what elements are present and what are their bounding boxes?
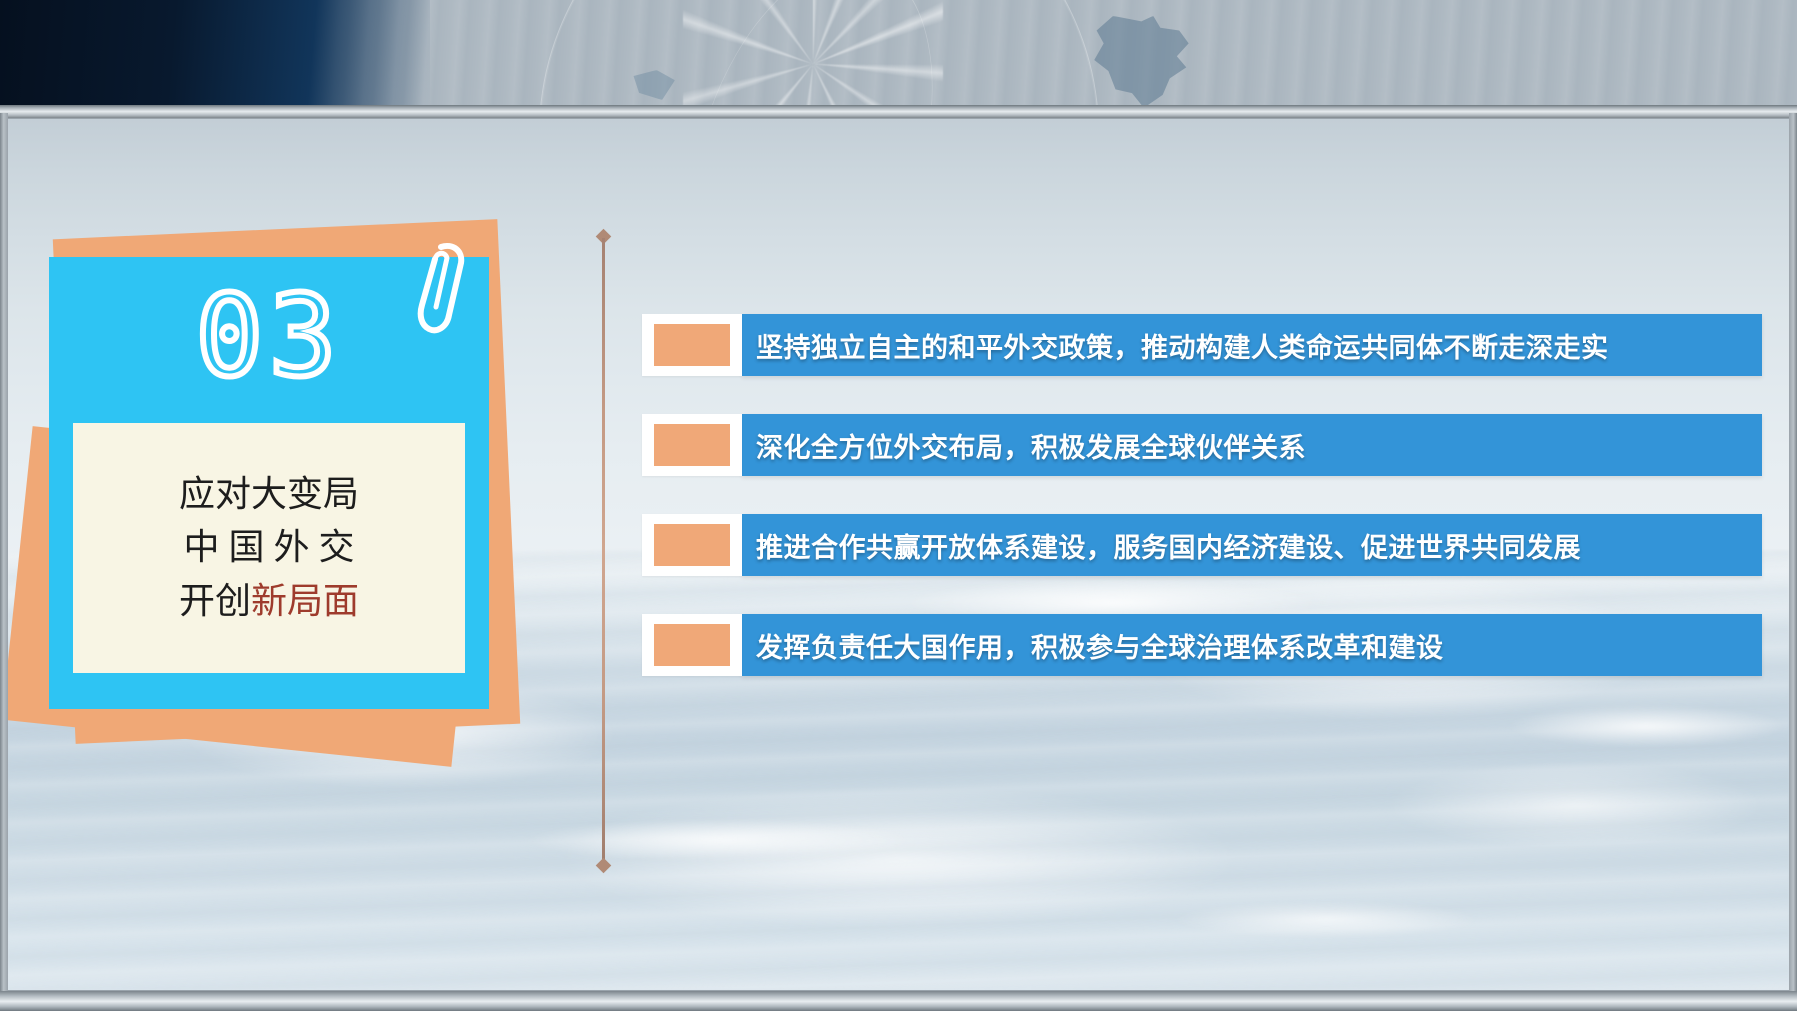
section-number-card: 03 应对大变局 中国外交 开创新局面 — [49, 257, 489, 709]
bullet-text-1: 坚持独立自主的和平外交政策，推动构建人类命运共同体不断走深走实 — [742, 314, 1762, 376]
presentation-slide: 03 应对大变局 中国外交 开创新局面 — [0, 0, 1797, 1011]
bullet-marker-3 — [642, 514, 742, 576]
bullet-marker-1 — [642, 314, 742, 376]
list-item[interactable]: 坚持独立自主的和平外交政策，推动构建人类命运共同体不断走深走实 — [642, 314, 1762, 376]
banner-dark-left-gradient — [0, 0, 430, 113]
vertical-divider-line — [600, 231, 607, 871]
section-title-line-3: 开创新局面 — [179, 582, 359, 622]
section-title-line-3-plain: 开创 — [179, 581, 251, 622]
globe-banner-image — [0, 0, 1797, 113]
paperclip-icon — [411, 241, 465, 337]
list-item[interactable]: 深化全方位外交布局，积极发展全球伙伴关系 — [642, 414, 1762, 476]
section-title-line-1: 应对大变局 — [179, 475, 359, 515]
bullet-square-icon — [654, 524, 730, 566]
bullet-marker-2 — [642, 414, 742, 476]
divider-stem — [602, 238, 605, 864]
bullet-square-icon — [654, 324, 730, 366]
frame-bevel-left — [0, 113, 8, 991]
slide-canvas: 03 应对大变局 中国外交 开创新局面 — [7, 118, 1790, 991]
bullet-text-2: 深化全方位外交布局，积极发展全球伙伴关系 — [742, 414, 1762, 476]
bullet-square-icon — [654, 624, 730, 666]
bullet-marker-4 — [642, 614, 742, 676]
frame-bevel-right — [1789, 113, 1797, 991]
frame-bevel-bottom — [0, 991, 1797, 1011]
bullet-square-icon — [654, 424, 730, 466]
starburst-light-icon — [683, 0, 943, 113]
section-title-box: 应对大变局 中国外交 开创新局面 — [73, 423, 465, 673]
bullet-text-4: 发挥负责任大国作用，积极参与全球治理体系改革和建设 — [742, 614, 1762, 676]
section-title-line-2: 中国外交 — [174, 528, 363, 568]
bullet-list: 坚持独立自主的和平外交政策，推动构建人类命运共同体不断走深走实 深化全方位外交布… — [642, 314, 1762, 676]
section-title-composition: 03 应对大变局 中国外交 开创新局面 — [8, 119, 568, 991]
list-item[interactable]: 推进合作共赢开放体系建设，服务国内经济建设、促进世界共同发展 — [642, 514, 1762, 576]
section-title-line-3-accent: 新局面 — [251, 581, 359, 622]
list-item[interactable]: 发挥负责任大国作用，积极参与全球治理体系改革和建设 — [642, 614, 1762, 676]
frame-bevel-top — [0, 105, 1797, 118]
bullet-text-3: 推进合作共赢开放体系建设，服务国内经济建设、促进世界共同发展 — [742, 514, 1762, 576]
